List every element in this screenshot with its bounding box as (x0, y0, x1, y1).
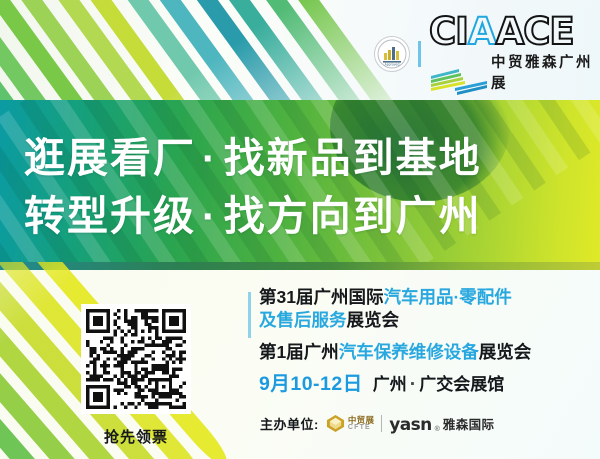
headline-line1-separator: · (196, 135, 224, 181)
headline-line-2: 转型升级·找方向到广州 (24, 196, 482, 237)
logo-accent-bar (418, 41, 421, 67)
ciaace-letter-i-1: I (455, 10, 468, 53)
info-line-3: 第1届广州汽车保养维修设备展览会 (259, 341, 591, 363)
info-line2-suffix: 展览会 (347, 310, 400, 330)
ciaace-letter-e-5: E (549, 10, 573, 53)
info-line-1: 第31届广州国际汽车用品·零配件 (259, 286, 591, 308)
ciaace-letter-a-3: A (496, 10, 524, 53)
event-venue: 广交会展馆 (419, 375, 504, 394)
ciaace-logo: Approved CIAACE 中贸雅森广州展 (374, 16, 600, 93)
location-separator: · (407, 373, 420, 395)
ticket-qr-block[interactable]: 抢先领票 (76, 304, 196, 447)
organizer-row: 主办单位: 中贸展 CFTE yasn ® 雅森国际 (260, 414, 494, 433)
cfte-text-group: 中贸展 CFTE (348, 416, 374, 432)
headline-line2-part2: 找方向到广州 (224, 193, 482, 239)
headline-line1-part2: 找新品到基地 (224, 135, 482, 181)
info-line-2: 及售后服务展览会 (259, 309, 591, 331)
yasn-registered-mark: ® (435, 426, 440, 433)
headline-line1-part1: 逛展看厂 (24, 135, 196, 181)
ciaace-wordmark: CIAACE (429, 16, 600, 48)
info-line1-highlight: 汽车用品·零配件 (383, 287, 511, 307)
ciaace-promo-banner: Approved CIAACE 中贸雅森广州展 逛展看厂·找新品到基地 转型升级… (0, 0, 600, 459)
info-line2-highlight: 及售后服务 (259, 310, 347, 330)
info-date-location-line: 9月10-12日广州·广交会展馆 (259, 372, 591, 397)
organizer-separator (381, 415, 382, 432)
ribbon-swoosh-icon (429, 67, 491, 97)
event-city: 广州 (363, 375, 407, 394)
ciaace-letter-a-2: A (468, 10, 496, 53)
ciaace-letter-c-0: C (429, 10, 455, 53)
event-date: 9月10-12日 (259, 373, 363, 395)
headline-line2-separator: · (196, 193, 224, 239)
ciaace-letter-c-4: C (523, 10, 549, 53)
info-line3-prefix: 第1届广州 (259, 342, 339, 362)
info-divider (248, 292, 251, 338)
exhibition-info-block: 第31届广州国际汽车用品·零配件 及售后服务展览会 第1届广州汽车保养维修设备展… (259, 286, 591, 397)
ciaace-wordmark-group: CIAACE 中贸雅森广州展 (429, 16, 600, 93)
headline-line-1: 逛展看厂·找新品到基地 (24, 138, 482, 179)
cfte-english-name: CFTE (348, 424, 374, 431)
svg-text:Approved: Approved (385, 63, 400, 67)
cfte-logo: 中贸展 CFTE (326, 414, 374, 433)
yasn-chinese-name: 雅森国际 (443, 414, 495, 433)
info-line3-highlight: 汽车保养维修设备 (339, 342, 479, 362)
organizer-label: 主办单位: (260, 414, 319, 433)
ufi-approved-event-badge-icon: Approved (374, 36, 410, 72)
yasn-wordmark: yasn (389, 418, 431, 433)
cfte-diamond-icon (326, 414, 345, 433)
qr-code-frame[interactable] (81, 304, 191, 414)
headline-line2-part1: 转型升级 (24, 193, 196, 239)
info-line3-suffix: 展览会 (479, 342, 532, 362)
info-line1-prefix: 第31届广州国际 (259, 287, 383, 307)
qr-caption: 抢先领票 (76, 426, 196, 447)
yasn-logo: yasn ® 雅森国际 (389, 414, 494, 433)
qr-code[interactable] (86, 309, 186, 409)
cfte-chinese-name: 中贸展 (348, 416, 374, 425)
